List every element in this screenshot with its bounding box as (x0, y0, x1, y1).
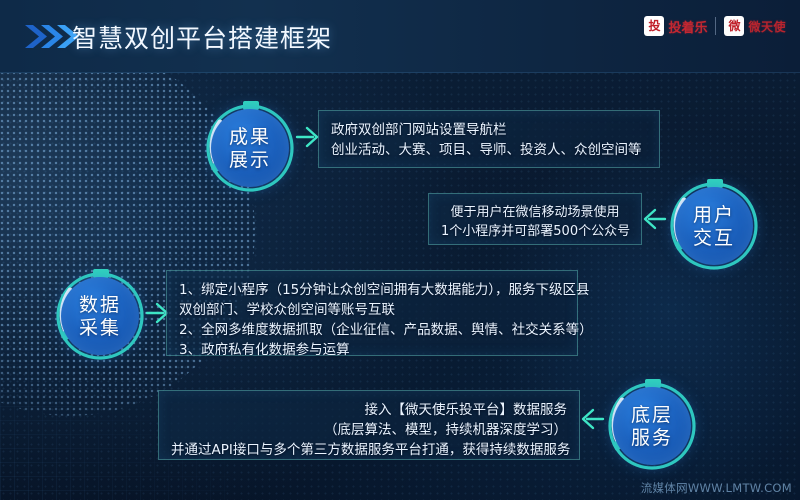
node-label-line1: 数据 (79, 294, 121, 316)
corner-bracket (566, 344, 579, 357)
panel-line: 创业活动、大赛、项目、导师、投资人、众创空间等 (331, 140, 647, 160)
panel-data-collection: 1、绑定小程序（15分钟让众创空间拥有大数据能力），服务下级区县 双创部门、学校… (166, 270, 578, 356)
brand-name: 投着乐 (668, 17, 707, 36)
node-label-line1: 用户 (693, 204, 735, 226)
page-title: 智慧双创平台搭建框架 (72, 19, 332, 55)
panel-line: 2、全网多维度数据抓取（企业征信、产品数据、舆情、社交关系等） (179, 320, 565, 340)
panel-line: 并通过API接口与多个第三方数据服务平台打通，获得持续数据服务 (171, 440, 567, 460)
panel-user-interaction: 便于用户在微信移动场景使用 1个小程序并可部署500个公众号 (428, 193, 642, 245)
connector-interaction-arrow (642, 206, 668, 232)
corner-bracket (317, 109, 330, 122)
brand-logo-touzhuole: 投 投着乐 (644, 16, 707, 36)
node-label-line2: 展示 (229, 149, 271, 171)
node-label-line2: 交互 (693, 227, 735, 249)
connector-underlying-arrow (580, 406, 606, 432)
brand-logos: 投 投着乐 微 微天使 (644, 13, 786, 39)
brand-mark-icon: 微 (724, 16, 744, 36)
brand-divider (715, 17, 716, 35)
corner-bracket (630, 192, 643, 205)
watermark: 流媒体网WWW.LMTW.COM (641, 480, 792, 496)
corner-bracket (566, 269, 579, 282)
corner-bracket (157, 389, 170, 402)
panel-results-display: 政府双创部门网站设置导航栏 创业活动、大赛、项目、导师、投资人、众创空间等 (318, 110, 660, 168)
node-label: 成果 展示 (211, 109, 289, 187)
panel-line: （底层算法、模型，持续机器深度学习） (171, 420, 567, 440)
connector-results-arrow (294, 124, 320, 150)
double-chevron-right-icon (23, 23, 79, 50)
node-user-interaction[interactable]: 用户 交互 (666, 178, 762, 274)
brand-name: 微天使 (748, 18, 786, 35)
corner-bracket (317, 156, 330, 169)
corner-bracket (427, 192, 440, 205)
corner-bracket (630, 233, 643, 246)
corner-bracket (165, 344, 178, 357)
node-label-line1: 底层 (631, 404, 673, 426)
panel-line: 1、绑定小程序（15分钟让众创空间拥有大数据能力），服务下级区县 (179, 280, 565, 300)
panel-line: 双创部门、学校众创空间等账号互联 (179, 300, 565, 320)
node-label: 底层 服务 (613, 387, 691, 465)
node-label: 数据 采集 (61, 277, 139, 355)
node-underlying-service[interactable]: 底层 服务 (604, 378, 700, 474)
node-label-line2: 服务 (631, 427, 673, 449)
panel-line: 便于用户在微信移动场景使用 (441, 203, 629, 222)
brand-logo-weitianshi: 微 微天使 (724, 16, 786, 36)
brand-mark-icon: 投 (644, 16, 664, 36)
corner-bracket (568, 389, 581, 402)
header-bar: 智慧双创平台搭建框架 投 投着乐 微 微天使 (0, 0, 800, 73)
node-data-collection[interactable]: 数据 采集 (52, 268, 148, 364)
panel-line: 1个小程序并可部署500个公众号 (441, 222, 629, 241)
corner-bracket (648, 156, 661, 169)
node-label-line2: 采集 (79, 317, 121, 339)
corner-bracket (568, 448, 581, 461)
corner-bracket (648, 109, 661, 122)
panel-line: 3、政府私有化数据参与运算 (179, 340, 565, 360)
panel-underlying-service: 接入【微天使乐投平台】数据服务 （底层算法、模型，持续机器深度学习） 并通过AP… (158, 390, 580, 460)
node-label-line1: 成果 (229, 126, 271, 148)
node-results-display[interactable]: 成果 展示 (202, 100, 298, 196)
slide-canvas: 智慧双创平台搭建框架 投 投着乐 微 微天使 成果 (0, 0, 800, 500)
node-label: 用户 交互 (675, 187, 753, 265)
corner-bracket (427, 233, 440, 246)
panel-line: 政府双创部门网站设置导航栏 (331, 120, 647, 140)
panel-line: 接入【微天使乐投平台】数据服务 (171, 400, 567, 420)
corner-bracket (165, 269, 178, 282)
corner-bracket (157, 448, 170, 461)
